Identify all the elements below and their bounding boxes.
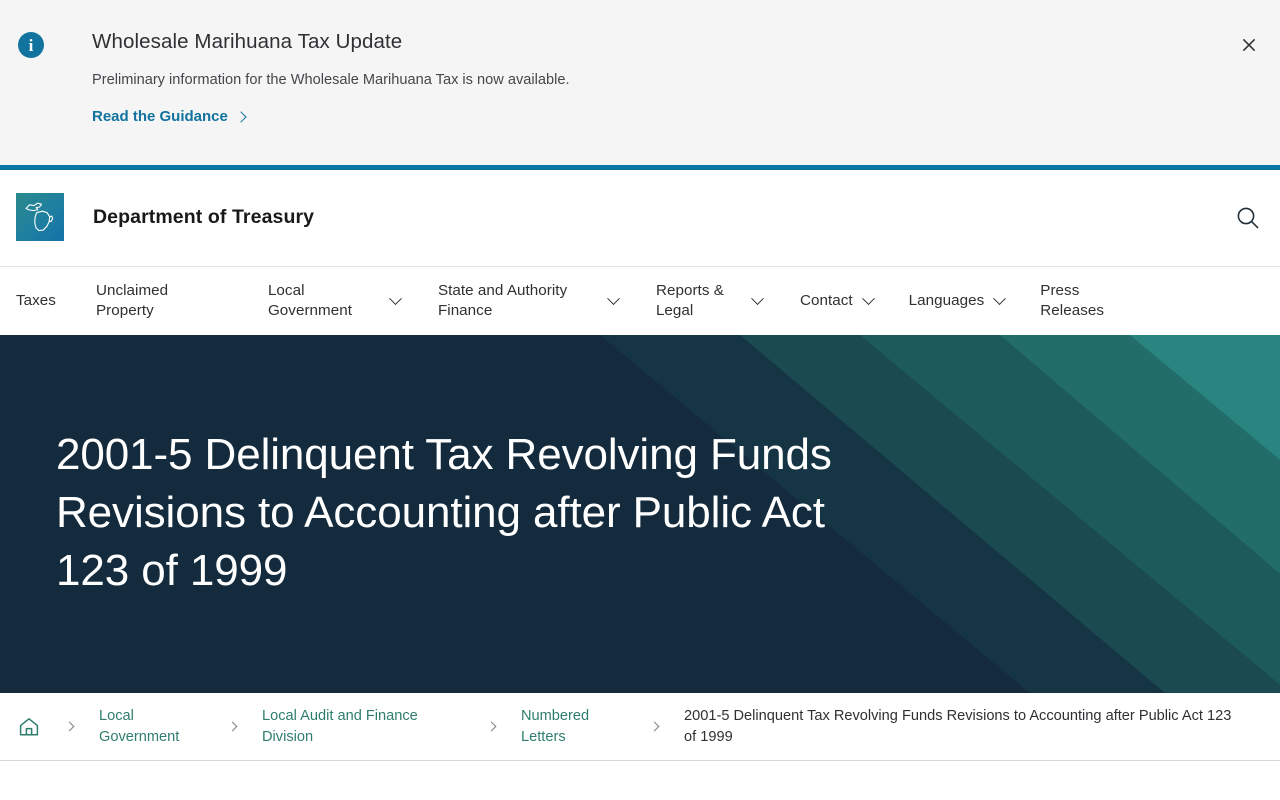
chevron-right-icon bbox=[487, 722, 497, 732]
breadcrumb-item-local-government[interactable]: Local Government bbox=[99, 706, 203, 746]
alert-banner: i Wholesale Marihuana Tax Update Prelimi… bbox=[0, 0, 1280, 170]
nav-item-press-releases[interactable]: Press Releases bbox=[1040, 281, 1114, 321]
breadcrumb-item-local-audit-and-finance-division[interactable]: Local Audit and Finance Division bbox=[262, 706, 462, 746]
alert-message: Preliminary information for the Wholesal… bbox=[92, 70, 1210, 90]
nav-label: Unclaimed Property bbox=[96, 281, 208, 321]
breadcrumb-item-current: 2001-5 Delinquent Tax Revolving Funds Re… bbox=[684, 706, 1244, 746]
chevron-down-icon bbox=[862, 292, 875, 305]
chevron-right-icon bbox=[228, 722, 238, 732]
hero-banner: 2001-5 Delinquent Tax Revolving Funds Re… bbox=[0, 335, 1280, 693]
nav-item-languages[interactable]: Languages bbox=[909, 291, 1005, 311]
nav-item-reports-and-legal[interactable]: Reports & Legal bbox=[656, 281, 762, 321]
nav-item-unclaimed-property[interactable]: Unclaimed Property bbox=[96, 281, 208, 321]
main-navigation: Taxes Unclaimed Property Local Governmen… bbox=[0, 267, 1280, 335]
nav-label: State and Authority Finance bbox=[438, 281, 598, 321]
alert-title: Wholesale Marihuana Tax Update bbox=[92, 28, 1210, 56]
chevron-down-icon bbox=[993, 292, 1006, 305]
info-circle-icon: i bbox=[18, 32, 44, 58]
home-icon[interactable] bbox=[18, 716, 40, 738]
breadcrumb: Local Government Local Audit and Finance… bbox=[0, 693, 1280, 761]
site-title: Department of Treasury bbox=[93, 206, 314, 229]
breadcrumb-item-numbered-letters[interactable]: Numbered Letters bbox=[521, 706, 625, 746]
chevron-down-icon bbox=[751, 292, 764, 305]
search-icon[interactable] bbox=[1233, 203, 1263, 233]
nav-item-contact[interactable]: Contact bbox=[800, 291, 873, 311]
nav-label: Taxes bbox=[16, 291, 56, 311]
chevron-right-icon bbox=[650, 722, 660, 732]
page-title: 2001-5 Delinquent Tax Revolving Funds Re… bbox=[56, 426, 846, 599]
nav-item-state-and-authority-finance[interactable]: State and Authority Finance bbox=[438, 281, 618, 321]
nav-label: Reports & Legal bbox=[656, 281, 742, 321]
alert-content: Wholesale Marihuana Tax Update Prelimina… bbox=[92, 28, 1210, 126]
brand-home-link[interactable]: Department of Treasury bbox=[16, 193, 314, 241]
read-the-guidance-label: Read the Guidance bbox=[92, 108, 228, 125]
nav-item-taxes[interactable]: Taxes bbox=[16, 291, 56, 311]
nav-label: Languages bbox=[909, 291, 985, 311]
nav-label: Local Government bbox=[268, 281, 380, 321]
page-content-area bbox=[0, 761, 1280, 799]
chevron-down-icon bbox=[607, 292, 620, 305]
read-the-guidance-link[interactable]: Read the Guidance bbox=[92, 108, 245, 125]
chevron-right-icon bbox=[235, 111, 246, 122]
site-header: Department of Treasury bbox=[0, 170, 1280, 267]
nav-label: Press Releases bbox=[1040, 281, 1114, 321]
michigan-state-outline-icon bbox=[16, 193, 64, 241]
chevron-right-icon bbox=[65, 722, 75, 732]
alert-close-button[interactable] bbox=[1238, 34, 1260, 56]
chevron-down-icon bbox=[389, 292, 402, 305]
nav-item-local-government[interactable]: Local Government bbox=[268, 281, 400, 321]
nav-label: Contact bbox=[800, 291, 853, 311]
